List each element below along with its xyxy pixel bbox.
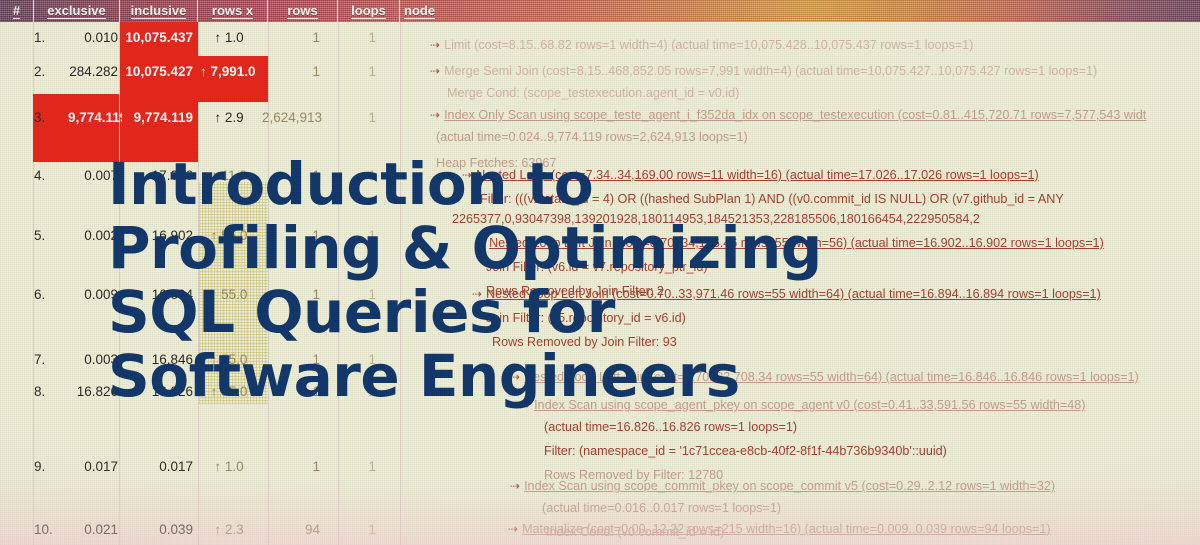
row-index: 7. bbox=[34, 352, 68, 367]
row-index: 10. bbox=[34, 522, 68, 537]
query-plan-screenshot: # exclusive inclusive rows x rows loops … bbox=[0, 0, 1200, 545]
plan-node-line[interactable]: ⇢Index Only Scan using scope_teste_agent… bbox=[430, 108, 1200, 122]
article-title-overlay: Introduction to Profiling & Optimizing S… bbox=[108, 152, 822, 408]
column-header-node[interactable]: node bbox=[400, 0, 490, 22]
title-line-4: Software Engineers bbox=[108, 344, 822, 408]
cell-inclusive: 0.017 bbox=[122, 459, 197, 474]
column-header-loops[interactable]: loops bbox=[338, 0, 400, 22]
tree-arrow-icon: ⇢ bbox=[510, 479, 520, 493]
cell-loops: 1 bbox=[328, 459, 376, 474]
cell-rows: 1 bbox=[262, 64, 320, 79]
cell-loops: 1 bbox=[328, 110, 376, 125]
cell-inclusive: 0.039 bbox=[122, 522, 197, 537]
column-header-rows[interactable]: rows bbox=[268, 0, 338, 22]
row-index: 1. bbox=[34, 30, 68, 45]
plan-node-line[interactable]: ⇢Index Scan using scope_commit_pkey on s… bbox=[510, 479, 1200, 493]
plan-node-detail: (actual time=0.024..9,774.119 rows=2,624… bbox=[436, 130, 1200, 144]
plan-node-detail: (actual time=16.826..16.826 rows=1 loops… bbox=[544, 420, 1200, 434]
plan-node-detail: Merge Cond: (scope_testexecution.agent_i… bbox=[447, 86, 1200, 100]
tree-arrow-icon: ⇢ bbox=[508, 522, 518, 536]
title-line-3: SQL Queries for bbox=[108, 280, 822, 344]
tree-arrow-icon: ⇢ bbox=[430, 108, 440, 122]
cell-exclusive: 0.021 bbox=[68, 522, 118, 537]
cell-rows-x: ↑ 1.0 bbox=[200, 30, 258, 45]
row-index: 2. bbox=[34, 64, 68, 79]
cell-rows-x: ↑ 2.9 bbox=[200, 110, 258, 125]
cell-exclusive: 0.010 bbox=[68, 30, 118, 45]
table-header-bar: # exclusive inclusive rows x rows loops … bbox=[0, 0, 1200, 22]
title-line-1: Introduction to bbox=[108, 152, 822, 216]
cell-exclusive: 284.282 bbox=[68, 64, 118, 79]
cell-rows: 1 bbox=[262, 459, 320, 474]
plan-node-line[interactable]: ⇢Materialize (cost=0.00..12.22 rows=215 … bbox=[508, 522, 1200, 536]
cell-loops: 1 bbox=[328, 30, 376, 45]
tree-arrow-icon: ⇢ bbox=[430, 38, 440, 52]
plan-node-detail: (actual time=0.016..0.017 rows=1 loops=1… bbox=[542, 501, 1200, 515]
cell-rows-x: ↑ 1.0 bbox=[200, 459, 258, 474]
row-index: 5. bbox=[34, 228, 68, 243]
title-line-2: Profiling & Optimizing bbox=[108, 216, 822, 280]
cell-rows: 1 bbox=[262, 30, 320, 45]
row-index: 6. bbox=[34, 287, 68, 302]
cell-inclusive: 9,774.119 bbox=[122, 110, 197, 125]
plan-node-line[interactable]: ⇢Limit (cost=8.15..68.82 rows=1 width=4)… bbox=[430, 38, 1200, 52]
cell-loops: 1 bbox=[328, 64, 376, 79]
row-index: 9. bbox=[34, 459, 68, 474]
cell-exclusive: 0.017 bbox=[68, 459, 118, 474]
column-header-index[interactable]: # bbox=[0, 0, 34, 22]
row-index: 3. bbox=[34, 110, 68, 125]
tree-arrow-icon: ⇢ bbox=[430, 64, 440, 78]
cell-inclusive: 10,075.427 bbox=[122, 64, 197, 79]
cell-inclusive: 10,075.437 bbox=[122, 30, 197, 45]
cell-rows: 2,624,913 bbox=[262, 110, 320, 125]
cell-rows-x: ↑ 2.3 bbox=[200, 522, 258, 537]
plan-node-detail: Filter: (namespace_id = '1c71ccea-e8cb-4… bbox=[544, 444, 1200, 458]
cell-rows-x: ↑ 7,991.0 bbox=[200, 64, 258, 79]
column-header-exclusive[interactable]: exclusive bbox=[34, 0, 120, 22]
column-header-rows-x[interactable]: rows x bbox=[198, 0, 268, 22]
plan-node-line[interactable]: ⇢Merge Semi Join (cost=8.15..468,852.05 … bbox=[430, 64, 1200, 78]
cell-exclusive: 9,774.119 bbox=[68, 110, 118, 125]
row-index: 8. bbox=[34, 384, 68, 399]
table-header-cells: # exclusive inclusive rows x rows loops … bbox=[0, 0, 1200, 22]
cell-loops: 1 bbox=[328, 522, 376, 537]
column-header-inclusive[interactable]: inclusive bbox=[120, 0, 198, 22]
row-index: 4. bbox=[34, 168, 68, 183]
cell-rows: 94 bbox=[262, 522, 320, 537]
